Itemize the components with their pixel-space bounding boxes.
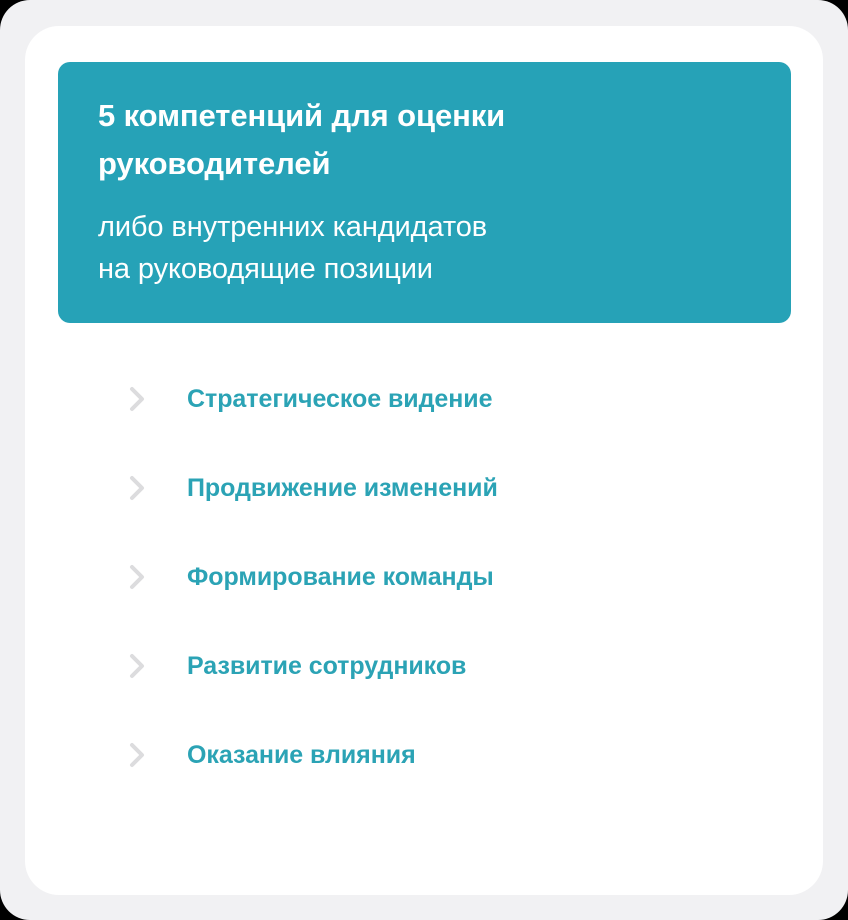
- list-item-label: Оказание влияния: [187, 740, 416, 770]
- list-item-label: Стратегическое видение: [187, 384, 492, 414]
- page-title: 5 компетенций для оценки руководителей: [98, 92, 751, 188]
- chevron-right-icon: [120, 738, 154, 772]
- competency-card: 5 компетенций для оценки руководителей л…: [25, 26, 823, 895]
- list-item[interactable]: Оказание влияния: [58, 710, 803, 799]
- chevron-right-icon: [120, 471, 154, 505]
- chevron-right-icon: [120, 560, 154, 594]
- list-item-label: Продвижение изменений: [187, 473, 498, 503]
- chevron-right-icon: [120, 649, 154, 683]
- list-item[interactable]: Продвижение изменений: [58, 443, 803, 532]
- page-subtitle: либо внутренних кандидатов на руководящи…: [98, 206, 751, 290]
- chevron-right-icon: [120, 382, 154, 416]
- list-item-label: Развитие сотрудников: [187, 651, 466, 681]
- competency-list: Стратегическое видение Продвижение измен…: [58, 354, 803, 799]
- card-header-banner: 5 компетенций для оценки руководителей л…: [58, 62, 791, 323]
- list-item-label: Формирование команды: [187, 562, 494, 592]
- list-item[interactable]: Формирование команды: [58, 532, 803, 621]
- page-root: 5 компетенций для оценки руководителей л…: [0, 0, 848, 920]
- list-item[interactable]: Стратегическое видение: [58, 354, 803, 443]
- list-item[interactable]: Развитие сотрудников: [58, 621, 803, 710]
